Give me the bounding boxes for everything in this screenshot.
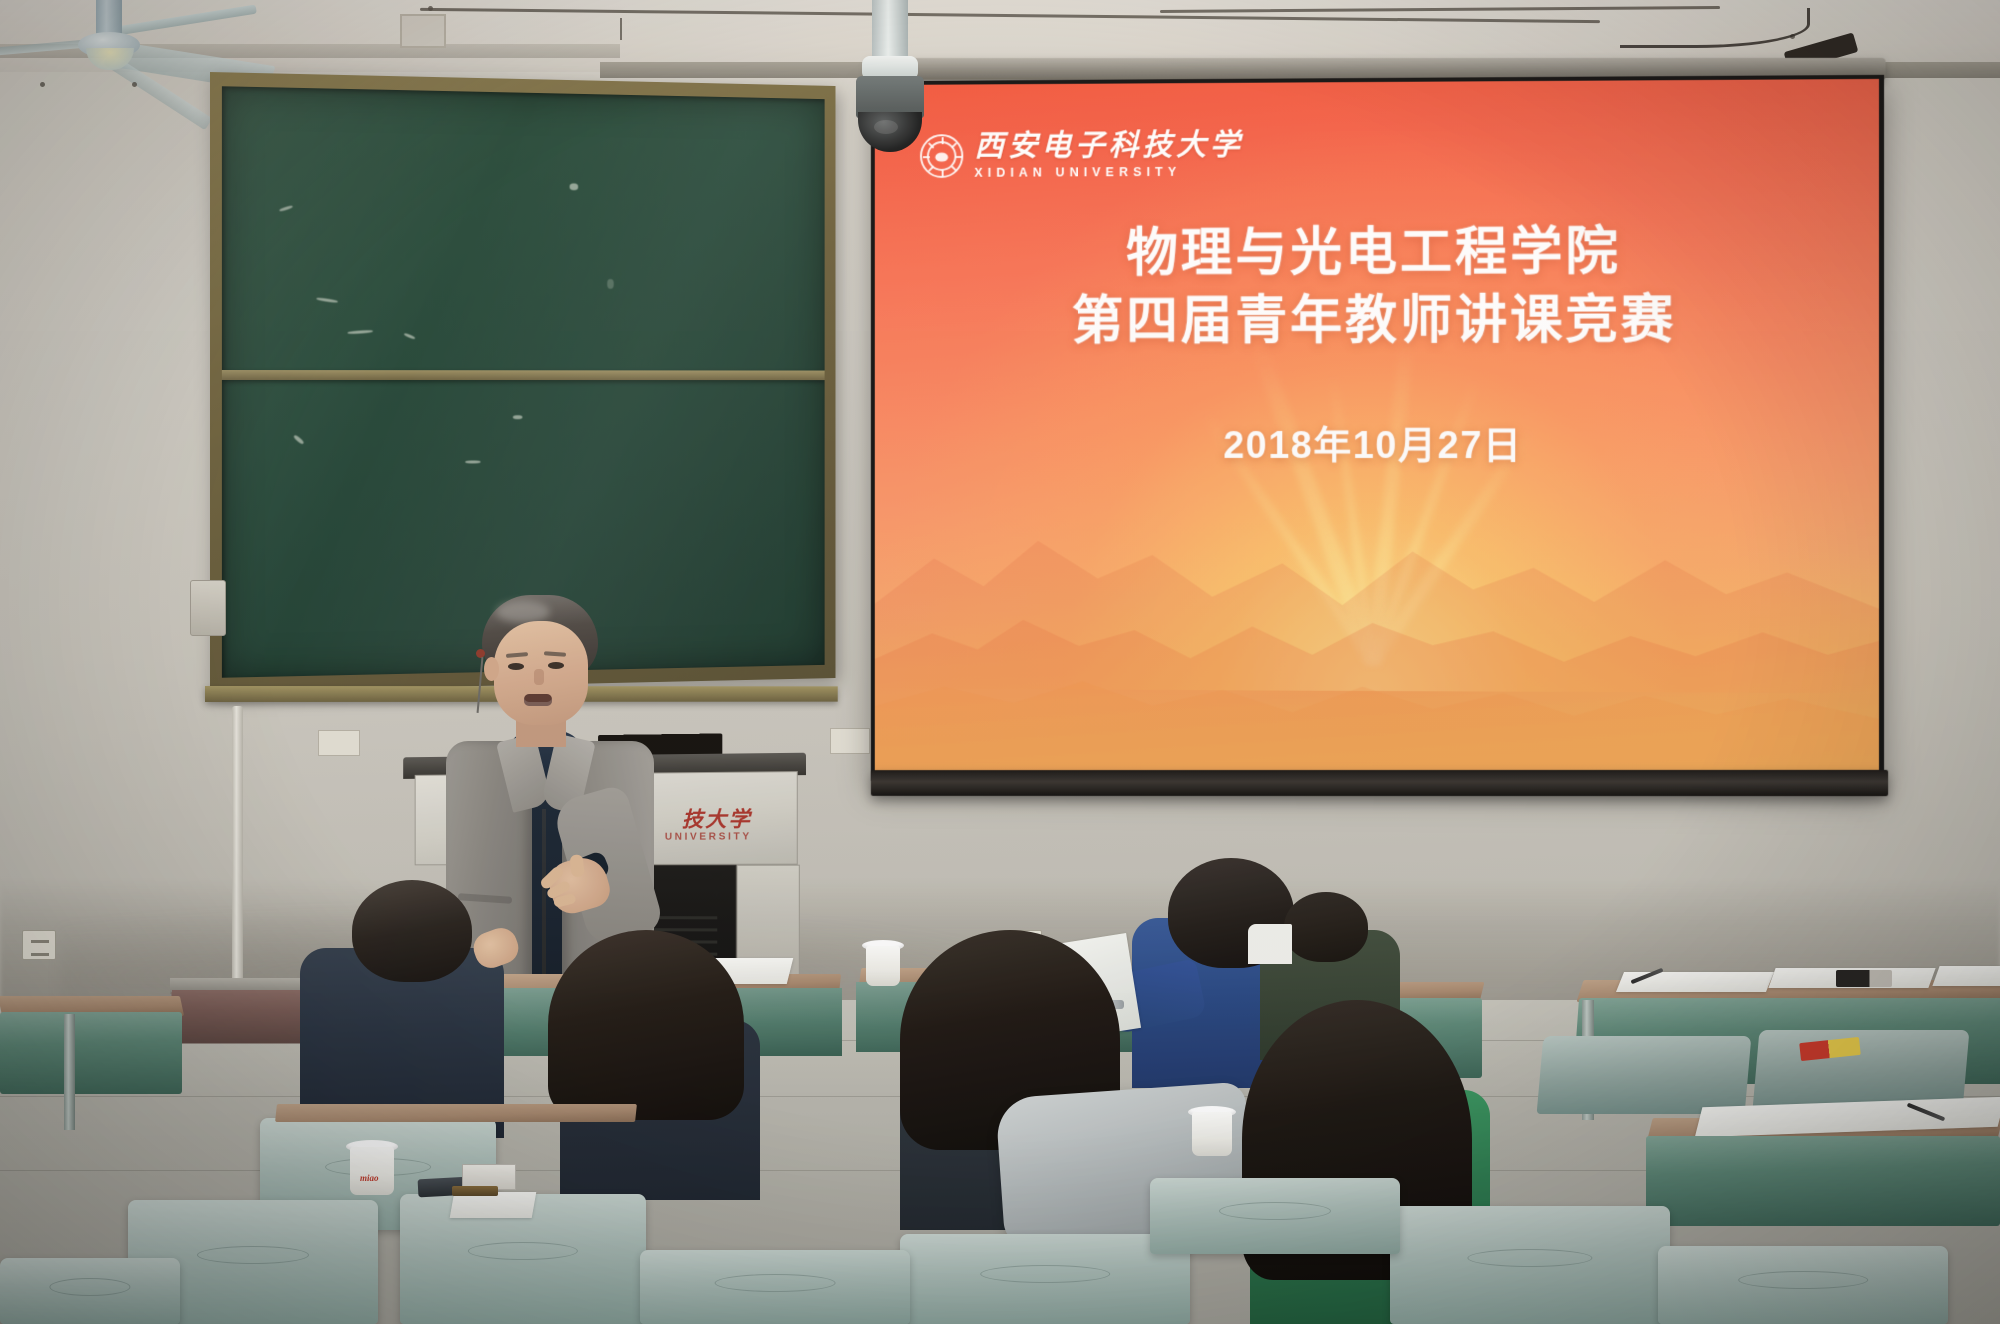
university-name-english: XIDIAN UNIVERSITY (974, 166, 1243, 180)
attendee-collar (1248, 924, 1292, 964)
desk-leg (64, 1014, 75, 1130)
power-outlet[interactable] (22, 930, 56, 960)
lecturer-eye (548, 662, 564, 669)
cigarette-box (1836, 970, 1892, 987)
seat-back[interactable] (1753, 1030, 1970, 1110)
wire-hanger (620, 18, 622, 40)
lecturer-eye (508, 663, 524, 670)
lecturer-nose (534, 669, 544, 685)
projection-screen: 西安电子科技大学 XIDIAN UNIVERSITY 物理与光电工程学院 第四届… (871, 75, 1884, 787)
wall-plate (830, 728, 870, 754)
camera-stem (872, 0, 908, 62)
slide-text-block: 物理与光电工程学院 第四届青年教师讲课竞赛 2018年10月27日 (875, 219, 1879, 469)
paper-cup (1192, 1112, 1232, 1156)
seat-back[interactable] (900, 1234, 1190, 1324)
fan-rod (96, 0, 122, 36)
seat-back[interactable] (1390, 1206, 1670, 1324)
seat-back[interactable] (0, 1258, 180, 1324)
lecture-hall-photo: 西安电子科技大学 XIDIAN UNIVERSITY 物理与光电工程学院 第四届… (0, 0, 2000, 1324)
attendee-head (1284, 892, 1368, 962)
paper-cup: miao (350, 1147, 394, 1195)
wall-fixing-dot (428, 6, 433, 11)
seat-back[interactable] (640, 1250, 910, 1324)
presentation-slide: 西安电子科技大学 XIDIAN UNIVERSITY 物理与光电工程学院 第四届… (875, 79, 1879, 777)
wall-speaker (190, 580, 226, 636)
paper-cup (866, 946, 900, 986)
blackboard-reflection (222, 86, 825, 677)
notebook (452, 1186, 498, 1196)
document-sheet (1932, 966, 2000, 986)
lectern-logo-english: UNIVERSITY (665, 831, 752, 842)
slide-date: 2018年10月27日 (875, 413, 1879, 468)
desk-surface (275, 1104, 637, 1122)
slide-title-line-2: 第四届青年教师讲课竞赛 (875, 287, 1879, 357)
attendee-head (352, 880, 472, 982)
seat-back[interactable] (1150, 1178, 1400, 1254)
document-sheet (1616, 972, 1774, 992)
slide-title-line-1: 物理与光电工程学院 (875, 219, 1879, 290)
wall-fixing-dot (132, 82, 137, 87)
mountain-silhouettes (875, 455, 1879, 777)
blackboard-divider (222, 370, 825, 380)
lecturer-mouth (524, 694, 552, 706)
lecturer-mic-cord (477, 657, 484, 713)
seat-back[interactable] (1537, 1036, 1752, 1114)
university-logo: 西安电子科技大学 XIDIAN UNIVERSITY (920, 131, 1243, 180)
university-name-chinese: 西安电子科技大学 (974, 131, 1243, 162)
university-crest-icon (920, 134, 963, 178)
seat-back[interactable] (1658, 1246, 1948, 1324)
desk (0, 1012, 182, 1094)
wall-plate (318, 730, 360, 756)
lectern-logo-chinese: 技大学 (682, 803, 752, 834)
desk (1646, 1136, 2000, 1226)
wall-fixing-dot (40, 82, 45, 87)
blackboard-surface (222, 86, 825, 677)
wall-pipe (232, 706, 243, 1012)
attendee-hair (548, 930, 744, 1120)
cup-logo: miao (360, 1173, 379, 1183)
lecturer-ear (484, 657, 499, 681)
ceiling-junction-box (400, 14, 446, 48)
screen-bottom-bar (871, 770, 1888, 796)
